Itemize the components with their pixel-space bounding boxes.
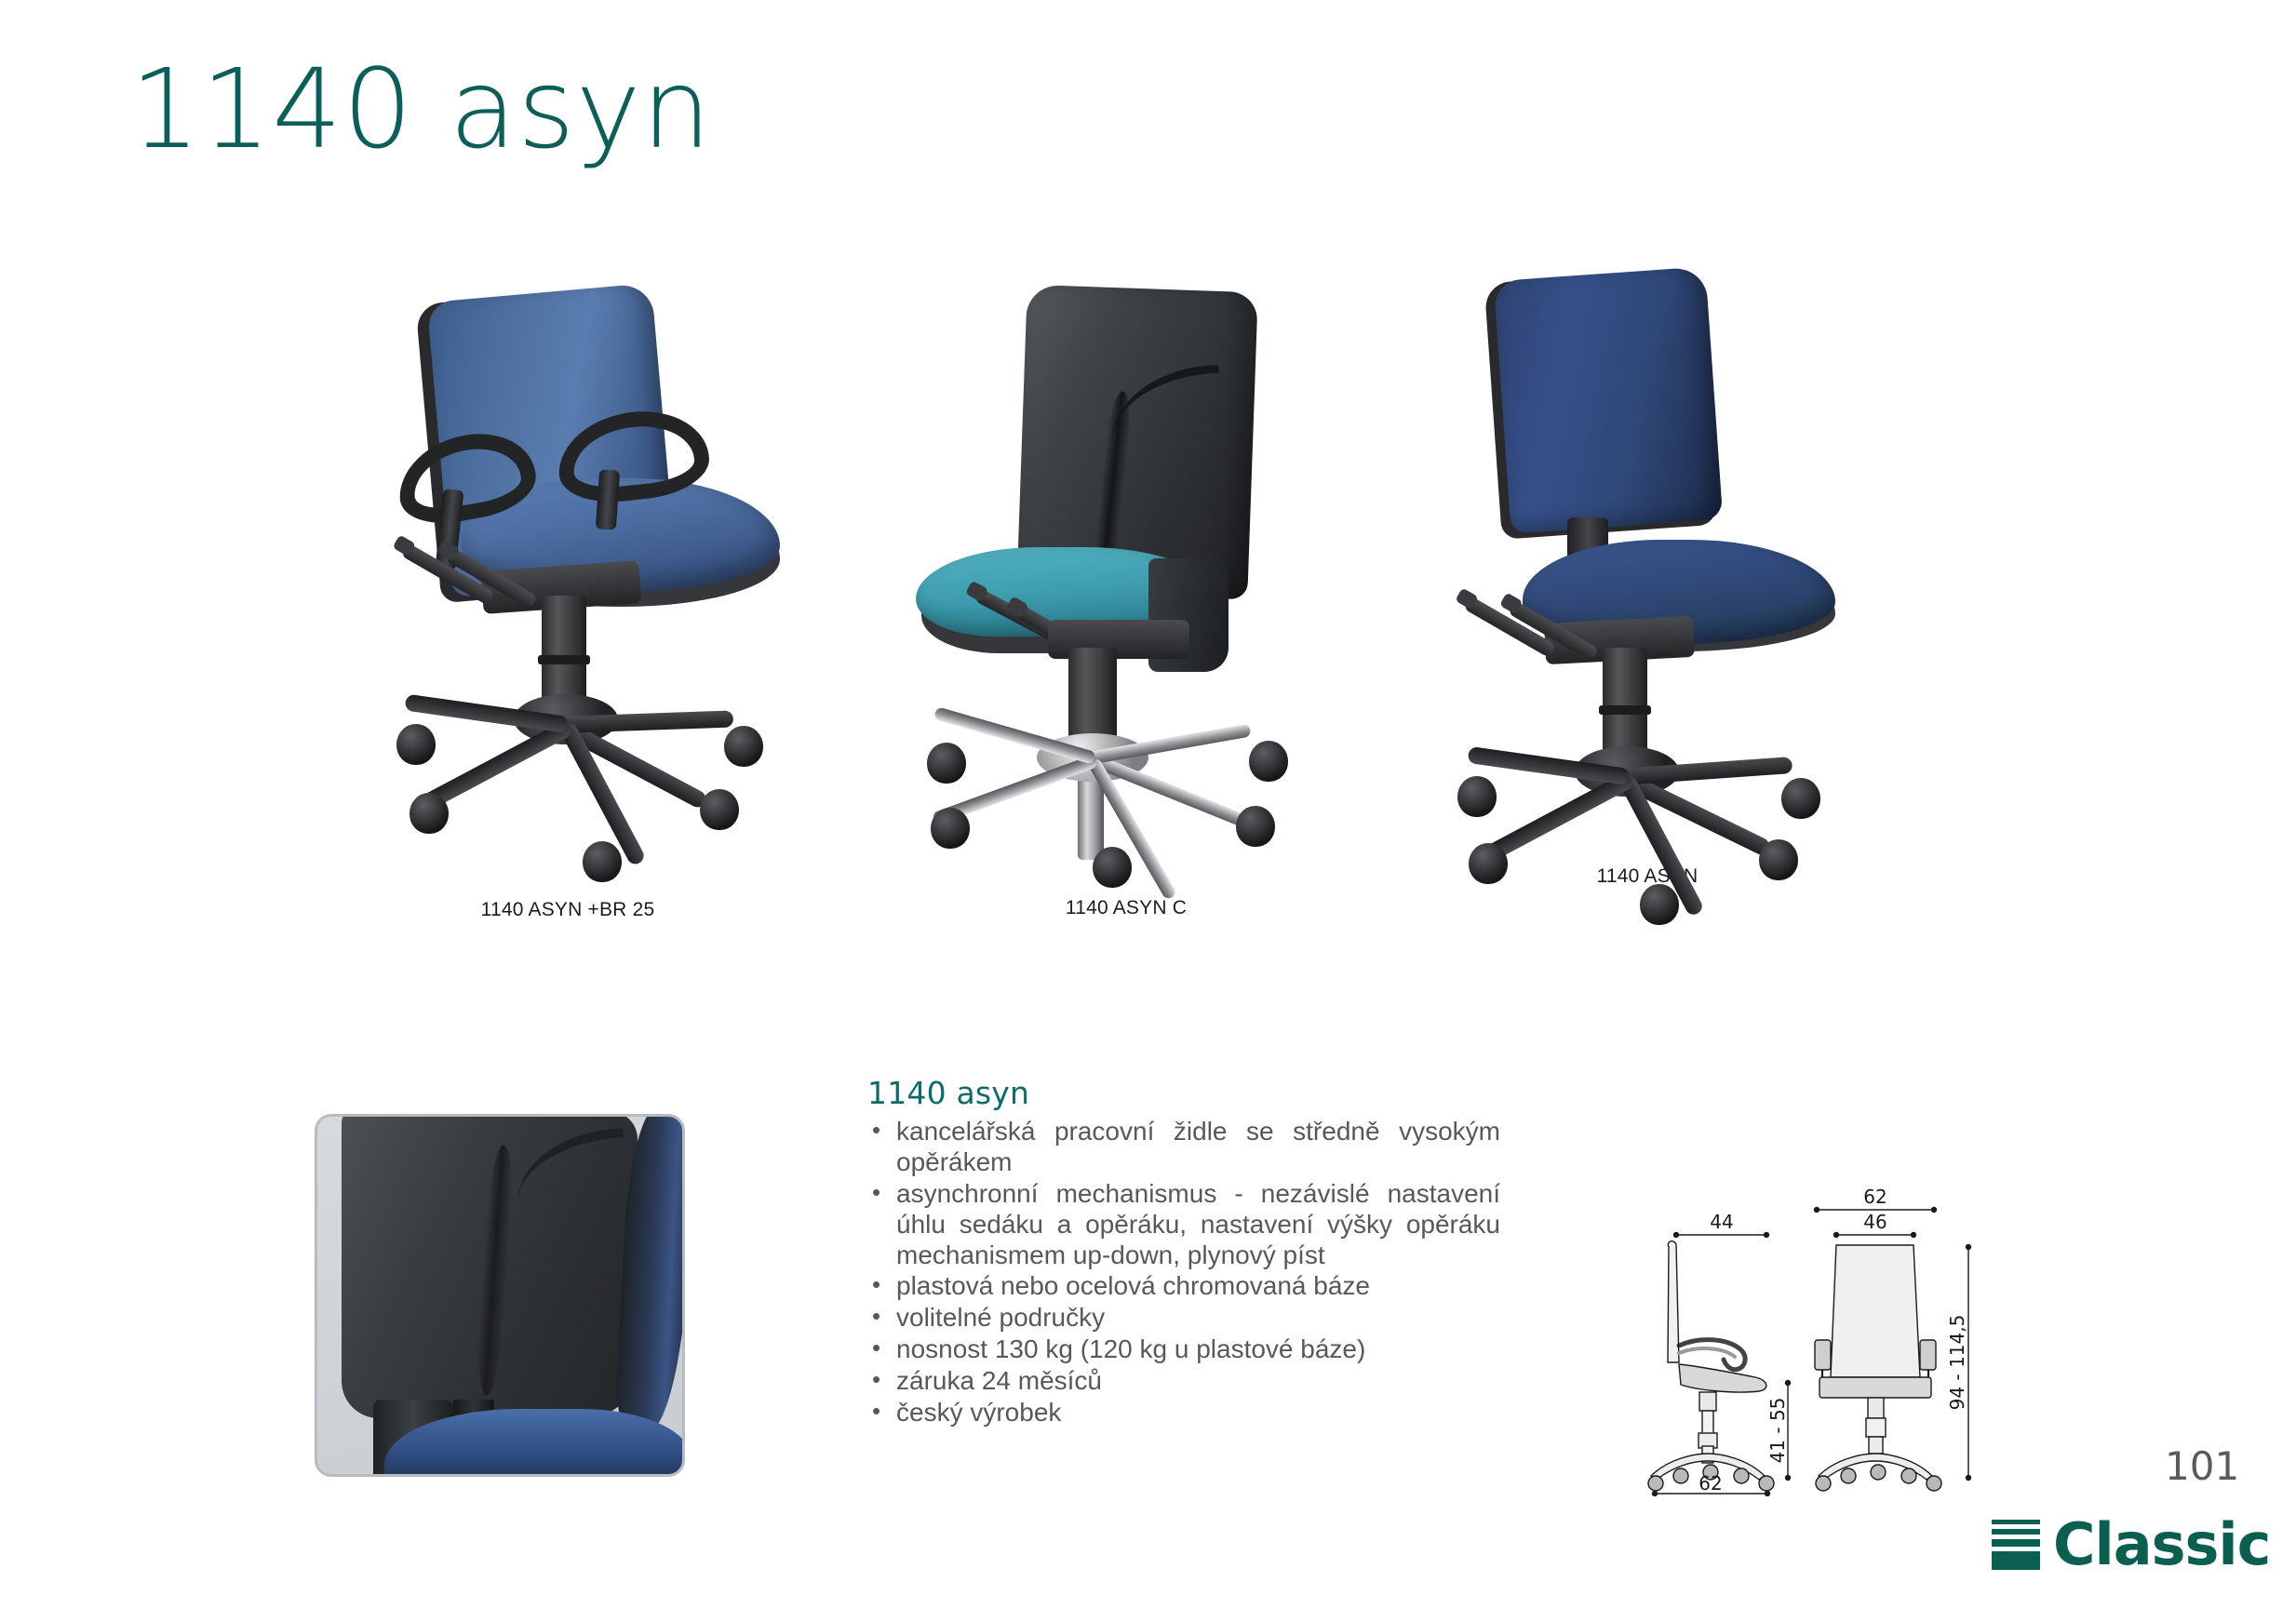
- dim-side-width: 44: [1673, 1211, 1769, 1238]
- gallery-caption-1: 1140 ASYN C: [866, 897, 1387, 919]
- chair-image-0: [279, 279, 856, 893]
- dim-seat-height: 41 - 55: [1766, 1380, 1791, 1481]
- spec-block: 1140 asyn kancelářská pracovní židle se …: [867, 1075, 1500, 1429]
- dim-total-height-label: 94 - 114,5: [1946, 1315, 1968, 1411]
- product-gallery: 1140 ASYN +BR 25: [0, 279, 2296, 986]
- dim-front-seat-width: 46: [1833, 1211, 1916, 1238]
- spec-item: nosnost 130 kg (120 kg u plastové báze): [867, 1334, 1500, 1365]
- gallery-item-1: 1140 ASYN C: [866, 279, 1387, 919]
- chair-image-1: [866, 279, 1387, 893]
- castor-2: [1249, 741, 1288, 782]
- spec-list: kancelářská pracovní židle se středně vy…: [867, 1117, 1500, 1428]
- page-title: 1140 asyn: [130, 54, 712, 164]
- castor-5: [927, 743, 966, 784]
- castor-4: [931, 808, 970, 849]
- dim-side-base-width-label: 62: [1699, 1472, 1722, 1495]
- gallery-caption-0: 1140 ASYN +BR 25: [279, 899, 856, 921]
- spec-item: volitelné područky: [867, 1303, 1500, 1334]
- dim-side-width-label: 44: [1710, 1211, 1733, 1233]
- spec-item: český výrobek: [867, 1398, 1500, 1428]
- castor-1: [1759, 839, 1798, 880]
- spec-item: záruka 24 měsíců: [867, 1366, 1500, 1397]
- spec-item: plastová nebo ocelová chromovaná báze: [867, 1271, 1500, 1302]
- castor-1: [1236, 806, 1275, 847]
- dim-front-base-width: 62: [1814, 1186, 1937, 1213]
- spec-item-text: asynchronní mechanismus - nezávislé nast…: [896, 1179, 1500, 1271]
- castor-5: [1457, 776, 1497, 817]
- front-view-drawing: [1815, 1245, 1941, 1491]
- column-ring: [538, 655, 590, 664]
- castor-4: [1469, 843, 1508, 884]
- castor-2: [724, 726, 763, 767]
- spec-item-text: záruka 24 měsíců: [896, 1366, 1500, 1397]
- castor-5: [396, 724, 436, 765]
- spec-item: asynchronní mechanismus - nezávislé nast…: [867, 1179, 1500, 1271]
- castor-2: [1781, 778, 1820, 819]
- dimension-drawings: 44 62 41 - 55: [1638, 1180, 2029, 1496]
- brand-logo: Classic: [1992, 1516, 2270, 1574]
- classic-bars-icon: [1992, 1520, 2040, 1570]
- spec-item-text: plastová nebo ocelová chromovaná báze: [896, 1271, 1500, 1302]
- castor-3: [583, 841, 622, 882]
- detail-photo: [315, 1114, 685, 1477]
- dim-seat-height-label: 41 - 55: [1766, 1398, 1789, 1464]
- dim-side-base-width: 62: [1652, 1472, 1770, 1496]
- brand-name: Classic: [2053, 1516, 2270, 1574]
- castor-1: [700, 789, 739, 830]
- spec-item-text: volitelné područky: [896, 1303, 1500, 1334]
- spec-title: 1140 asyn: [867, 1075, 1500, 1111]
- dim-front-seat-width-label: 46: [1863, 1211, 1886, 1233]
- armrest-right-stem: [596, 469, 620, 529]
- side-view-drawing: [1648, 1241, 1774, 1491]
- dim-total-height: 94 - 114,5: [1946, 1244, 1971, 1481]
- spec-item-text: český výrobek: [896, 1398, 1500, 1428]
- gallery-item-0: 1140 ASYN +BR 25: [279, 279, 856, 921]
- page-number: 101: [2165, 1443, 2239, 1489]
- spec-item: kancelářská pracovní židle se středně vy…: [867, 1117, 1500, 1178]
- column-ring: [1599, 705, 1651, 715]
- catalog-page: 1140 asyn: [0, 0, 2296, 1622]
- castor-3: [1093, 847, 1132, 888]
- gallery-item-2: 1140 ASYN: [1387, 264, 1908, 888]
- chair-image-2: [1387, 264, 1908, 878]
- spec-item-text: nosnost 130 kg (120 kg u plastové báze): [896, 1334, 1500, 1365]
- castor-3: [1640, 884, 1679, 925]
- backrest: [1494, 266, 1723, 533]
- spec-item-text: kancelářská pracovní židle se středně vy…: [896, 1117, 1500, 1178]
- dim-front-base-width-label: 62: [1863, 1186, 1886, 1208]
- dimension-svg: 44 62 41 - 55: [1638, 1180, 2029, 1496]
- castor-4: [410, 793, 449, 834]
